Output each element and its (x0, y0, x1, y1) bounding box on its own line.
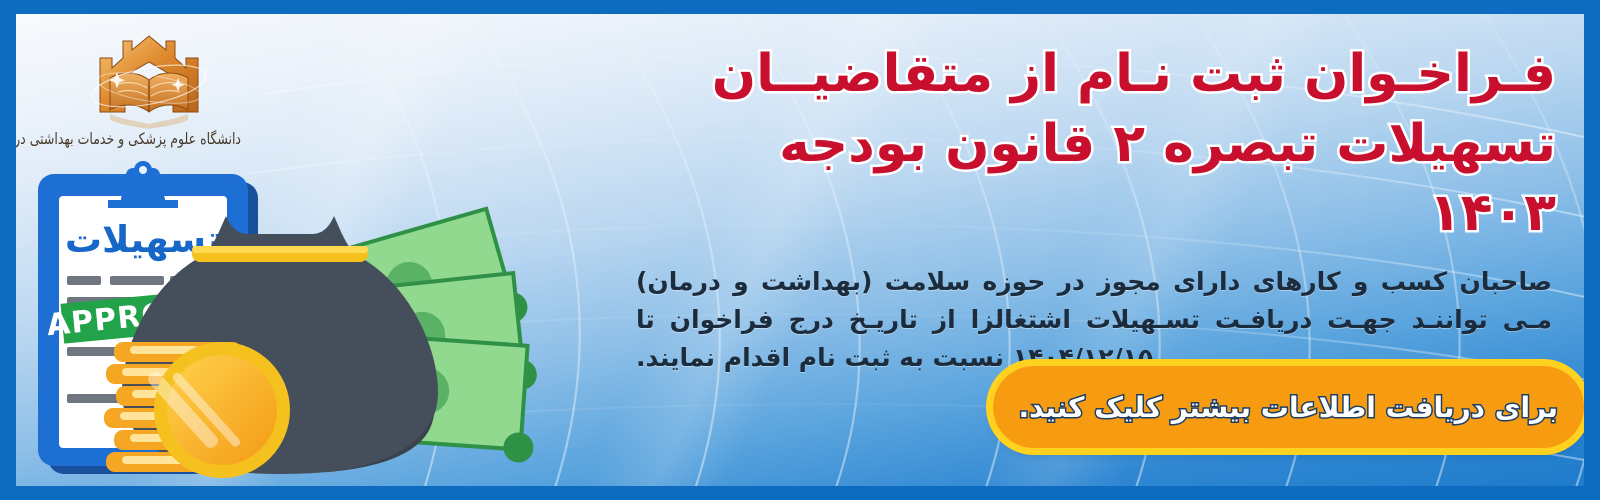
cta-row: برای دریافت اطلاعات بیشتر کلیک کنید. (664, 366, 1584, 448)
logo-caption: دانشگاه علوم پزشکی و خدمات بهداشتی درمان… (56, 129, 241, 148)
body-paragraph: صاحبان کسب و کارهای دارای مجوز در حوزه س… (636, 263, 1552, 377)
promo-banner: دانشگاه علوم پزشکی و خدمات بهداشتی درمان… (0, 0, 1600, 500)
open-book-logo-icon (74, 28, 224, 133)
more-info-button[interactable]: برای دریافت اطلاعات بیشتر کلیک کنید. (993, 366, 1584, 448)
banner-content: فـراخـوان ثبت نـام از متقاضیــان تسهیلات… (636, 40, 1556, 377)
body-copy: صاحبان کسب و کارهای دارای مجوز در حوزه س… (636, 263, 1552, 377)
headline-line-2: تسهیلات تبصره ۲ قانون بودجه ۱۴۰۳ (636, 110, 1556, 249)
banner-stage: دانشگاه علوم پزشکی و خدمات بهداشتی درمان… (16, 14, 1584, 486)
headline-line-1: فـراخـوان ثبت نـام از متقاضیــان (712, 44, 1556, 104)
page-title: فـراخـوان ثبت نـام از متقاضیــان تسهیلات… (636, 40, 1556, 249)
finance-illustration: تسهیلات (26, 156, 566, 486)
